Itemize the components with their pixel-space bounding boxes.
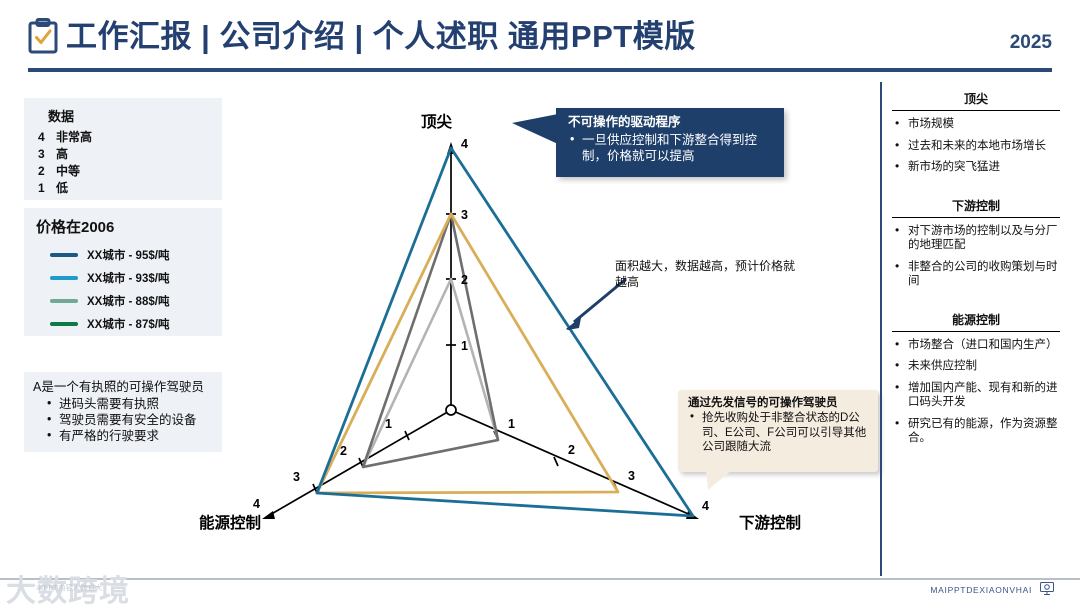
tick-label-right-2: 2: [568, 443, 575, 457]
callout-first-mover-operator: 通过先发信号的可操作驾驶员 抢先收购处于非整合状态的D公司、E公司、F公司可以引…: [678, 390, 878, 472]
tick-label-left-2: 2: [340, 444, 347, 458]
list-item: 研究已有的能源，作为资源整合。: [892, 417, 1060, 446]
legend-color-swatch: [50, 276, 78, 280]
axis-title-top: 顶尖: [421, 110, 452, 132]
sidebar: 顶尖 市场规模 过去和未来的本地市场增长 新市场的突飞猛进 下游控制 对下游市场…: [892, 90, 1060, 460]
scale-number: 2: [34, 163, 56, 180]
price-legend-heading: 价格在2006: [36, 216, 212, 237]
sidebar-block-energy: 能源控制 市场整合（进口和国内生产） 未来供应控制 增加国内产能、现有和新的进口…: [892, 311, 1060, 446]
legend-item: XX城市 - 88$/吨: [34, 289, 212, 312]
scale-label: 中等: [56, 163, 80, 180]
tick-label-right-1: 1: [508, 417, 515, 431]
sidebar-divider: [880, 82, 882, 576]
scale-row: 1 低: [34, 180, 212, 197]
list-item: 有严格的行驶要求: [47, 428, 213, 444]
scale-number: 3: [34, 146, 56, 163]
radar-center-hub: [446, 405, 456, 415]
scale-row: 4 非常高: [34, 129, 212, 146]
title-row: 工作汇报 | 公司介绍 | 个人述职 通用PPT模版: [28, 18, 696, 54]
list-item: 过去和未来的本地市场增长: [892, 139, 1060, 154]
sidebar-block-top: 顶尖 市场规模 过去和未来的本地市场增长 新市场的突飞猛进: [892, 90, 1060, 175]
callout-dark-list: 一旦供应控制和下游整合得到控制，价格就可以提高: [568, 132, 774, 164]
scale-label: 低: [56, 180, 68, 197]
callout-cream-tail: [706, 470, 736, 492]
operator-notes-list: 进码头需要有执照 驾驶员需要有安全的设备 有严格的行驶要求: [33, 396, 213, 444]
list-item: 驾驶员需要有安全的设备: [47, 412, 213, 428]
legend-color-swatch: [50, 299, 78, 303]
callout-dark-heading: 不可操作的驱动程序: [568, 115, 774, 130]
list-item: 市场规模: [892, 117, 1060, 132]
tick-label-right-3: 3: [628, 469, 635, 483]
sidebar-block-list: 对下游市场的控制以及与分厂的地理匹配 非整合的公司的收购策划与时间: [892, 224, 1060, 289]
legend-item: XX城市 - 95$/吨: [34, 243, 212, 266]
legend-color-swatch: [50, 322, 78, 326]
scale-label: 高: [56, 146, 68, 163]
scale-label: 非常高: [56, 129, 92, 146]
axis-title-downstream-control: 下游控制: [670, 511, 870, 533]
sidebar-block-list: 市场整合（进口和国内生产） 未来供应控制 增加国内产能、现有和新的进口码头开发 …: [892, 338, 1060, 446]
tick-label-left-3: 3: [293, 470, 300, 484]
callout-cream-heading: 通过先发信号的可操作驾驶员: [688, 396, 869, 410]
legend-item-label: XX城市 - 88$/吨: [87, 293, 169, 309]
radar-series-blue: [317, 148, 693, 516]
callout-dark-tail: [512, 114, 558, 148]
header-divider: [28, 68, 1052, 72]
list-item: 一旦供应控制和下游整合得到控制，价格就可以提高: [568, 132, 774, 164]
page-header: 工作汇报 | 公司介绍 | 个人述职 通用PPT模版 2025: [0, 0, 1080, 78]
legend-item-label: XX城市 - 95$/吨: [87, 247, 169, 263]
radar-series-dark-gray: [363, 214, 498, 467]
price-legend-panel: 价格在2006 XX城市 - 95$/吨 XX城市 - 93$/吨 XX城市 -…: [24, 208, 222, 336]
radar-series-light-gray: [363, 279, 498, 467]
chart-annotation: 面积越大，数据越高，预计价格就越高: [615, 258, 795, 290]
sidebar-block-title: 顶尖: [892, 90, 1060, 110]
tick-label-top-3: 3: [461, 208, 468, 222]
list-item: 抢先收购处于非整合状态的D公司、E公司、F公司可以引导其他公司跟随大流: [688, 411, 869, 455]
footer-brand-text: MAIPPTDEXIAONVHAI: [930, 585, 1032, 595]
tick-label-top-1: 1: [461, 339, 468, 353]
scale-row: 3 高: [34, 146, 212, 163]
operator-notes-panel: A是一个有执照的可操作驾驶员 进码头需要有执照 驾驶员需要有安全的设备 有严格的…: [24, 372, 222, 452]
page-title: 工作汇报 | 公司介绍 | 个人述职 通用PPT模版: [66, 21, 696, 52]
list-item: 增加国内产能、现有和新的进口码头开发: [892, 381, 1060, 410]
data-scale-heading: 数据: [48, 106, 212, 125]
sidebar-block-downstream: 下游控制 对下游市场的控制以及与分厂的地理匹配 非整合的公司的收购策划与时间: [892, 197, 1060, 289]
data-scale-panel: 数据 4 非常高 3 高 2 中等 1 低: [24, 98, 222, 200]
callout-cream-list: 抢先收购处于非整合状态的D公司、E公司、F公司可以引导其他公司跟随大流: [688, 411, 869, 455]
list-item: 进码头需要有执照: [47, 396, 213, 412]
list-item: 新市场的突飞猛进: [892, 160, 1060, 175]
tick-label-left-1: 1: [385, 417, 392, 431]
sidebar-block-rule: [892, 110, 1060, 111]
sidebar-block-list: 市场规模 过去和未来的本地市场增长 新市场的突飞猛进: [892, 117, 1060, 175]
sidebar-block-rule: [892, 217, 1060, 218]
scale-row: 2 中等: [34, 163, 212, 180]
sidebar-block-title: 能源控制: [892, 311, 1060, 331]
operator-notes-lead: A是一个有执照的可操作驾驶员: [33, 379, 213, 395]
list-item: 对下游市场的控制以及与分厂的地理匹配: [892, 224, 1060, 253]
list-item: 非整合的公司的收购策划与时间: [892, 260, 1060, 289]
watermark-subtext: 本PPT内容人转自大: [36, 583, 103, 593]
list-item: 未来供应控制: [892, 359, 1060, 374]
tick-label-top-2: 2: [461, 273, 468, 287]
clipboard-check-icon: [28, 18, 58, 54]
legend-item-label: XX城市 - 87$/吨: [87, 316, 169, 332]
legend-item: XX城市 - 87$/吨: [34, 312, 212, 335]
legend-item: XX城市 - 93$/吨: [34, 266, 212, 289]
legend-color-swatch: [50, 253, 78, 257]
sidebar-block-title: 下游控制: [892, 197, 1060, 217]
year-label: 2025: [1010, 32, 1052, 54]
list-item: 市场整合（进口和国内生产）: [892, 338, 1060, 353]
legend-item-label: XX城市 - 93$/吨: [87, 270, 169, 286]
scale-number: 4: [34, 129, 56, 146]
sidebar-block-rule: [892, 331, 1060, 332]
scale-number: 1: [34, 180, 56, 197]
callout-non-operable-driver: 不可操作的驱动程序 一旦供应控制和下游整合得到控制，价格就可以提高: [556, 108, 784, 177]
tick-label-top-4: 4: [461, 137, 468, 151]
axis-title-energy-control: 能源控制: [130, 511, 330, 533]
footer-badge-icon: [1040, 582, 1054, 595]
tick-label-left-4: 4: [253, 497, 260, 511]
